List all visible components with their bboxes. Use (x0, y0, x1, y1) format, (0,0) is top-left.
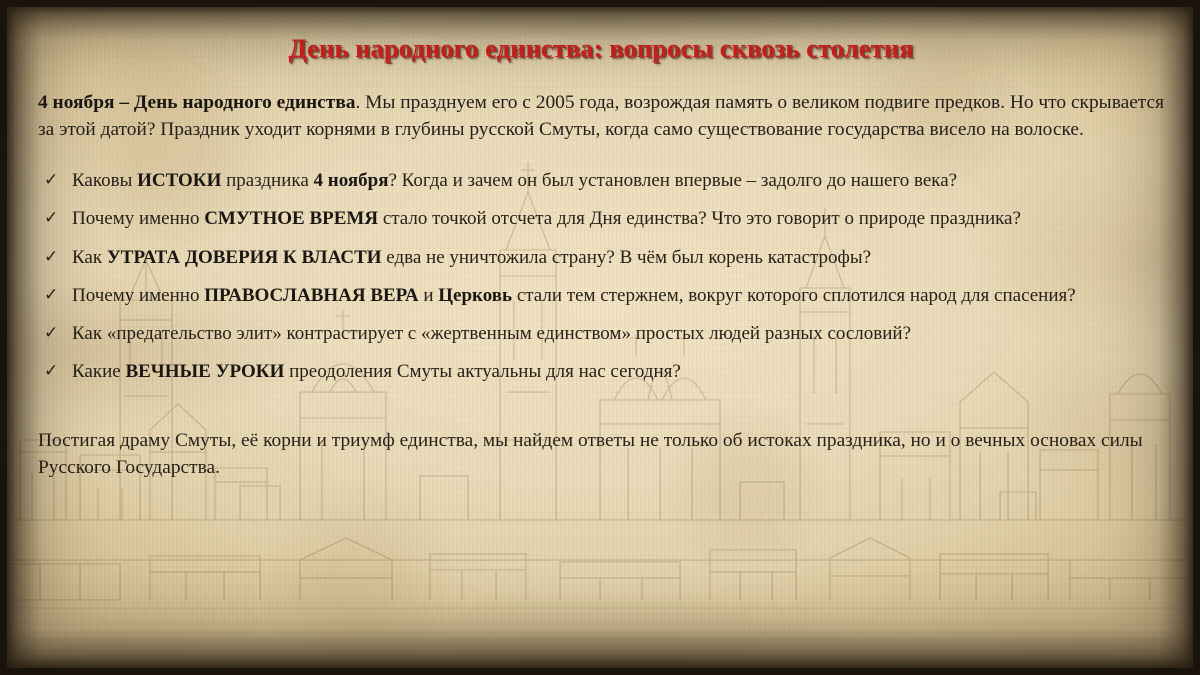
question-emphasis: ВЕЧНЫЕ УРОКИ (125, 361, 284, 382)
check-icon: ✓ (44, 322, 58, 345)
outro-paragraph: Постигая драму Смуты, её корни и триумф … (38, 427, 1166, 481)
question-text: Почему именно СМУТНОЕ ВРЕМЯ стало точкой… (72, 208, 1021, 229)
question-fragment: ? Когда и зачем он был установлен впервы… (389, 170, 958, 191)
question-fragment: Каковы (72, 170, 137, 191)
question-fragment: Какие (72, 361, 125, 382)
question-fragment: стали тем стержнем, вокруг которого спло… (512, 285, 1076, 306)
question-text: Какие ВЕЧНЫЕ УРОКИ преодоления Смуты акт… (72, 361, 681, 382)
question-emphasis: ИСТОКИ (137, 170, 221, 191)
intro-lead: 4 ноября – День народного единства (38, 92, 355, 113)
slide-content: День народного единства: вопросы сквозь … (0, 0, 1200, 675)
question-text: Почему именно ПРАВОСЛАВНАЯ ВЕРА и Церков… (72, 285, 1076, 306)
question-emphasis: 4 ноября (314, 170, 389, 191)
question-emphasis: Церковь (438, 285, 512, 306)
question-item: ✓Как «предательство элит» контрастирует … (42, 321, 1168, 346)
check-icon: ✓ (44, 360, 58, 383)
question-text: Как УТРАТА ДОВЕРИЯ К ВЛАСТИ едва не унич… (72, 247, 871, 268)
question-fragment: Как (72, 247, 107, 268)
check-icon: ✓ (44, 246, 58, 269)
questions-list: ✓Каковы ИСТОКИ праздника 4 ноября? Когда… (34, 168, 1168, 385)
check-icon: ✓ (44, 207, 58, 230)
question-emphasis: УТРАТА ДОВЕРИЯ К ВЛАСТИ (107, 247, 382, 268)
question-emphasis: СМУТНОЕ ВРЕМЯ (204, 208, 378, 229)
question-fragment: преодоления Смуты актуальны для нас сего… (284, 361, 680, 382)
question-fragment: праздника (221, 170, 313, 191)
check-icon: ✓ (44, 169, 58, 192)
slide-title: День народного единства: вопросы сквозь … (34, 26, 1168, 63)
question-fragment: Почему именно (72, 285, 204, 306)
question-item: ✓Каковы ИСТОКИ праздника 4 ноября? Когда… (42, 168, 1168, 193)
question-text: Как «предательство элит» контрастирует с… (72, 323, 911, 344)
question-item: ✓Почему именно СМУТНОЕ ВРЕМЯ стало точко… (42, 206, 1168, 231)
question-item: ✓Как УТРАТА ДОВЕРИЯ К ВЛАСТИ едва не уни… (42, 245, 1168, 270)
question-fragment: и (419, 285, 439, 306)
question-fragment: едва не уничтожила страну? В чём был кор… (382, 247, 872, 268)
slide-canvas: День народного единства: вопросы сквозь … (0, 0, 1200, 675)
check-icon: ✓ (44, 284, 58, 307)
question-emphasis: ПРАВОСЛАВНАЯ ВЕРА (204, 285, 418, 306)
question-fragment: стало точкой отсчета для Дня единства? Ч… (378, 208, 1021, 229)
question-fragment: Почему именно (72, 208, 204, 229)
question-text: Каковы ИСТОКИ праздника 4 ноября? Когда … (72, 170, 957, 191)
question-item: ✓Почему именно ПРАВОСЛАВНАЯ ВЕРА и Церко… (42, 283, 1168, 308)
question-item: ✓Какие ВЕЧНЫЕ УРОКИ преодоления Смуты ак… (42, 359, 1168, 384)
question-fragment: Как «предательство элит» контрастирует с… (72, 323, 911, 344)
intro-paragraph: 4 ноября – День народного единства. Мы п… (38, 90, 1166, 144)
